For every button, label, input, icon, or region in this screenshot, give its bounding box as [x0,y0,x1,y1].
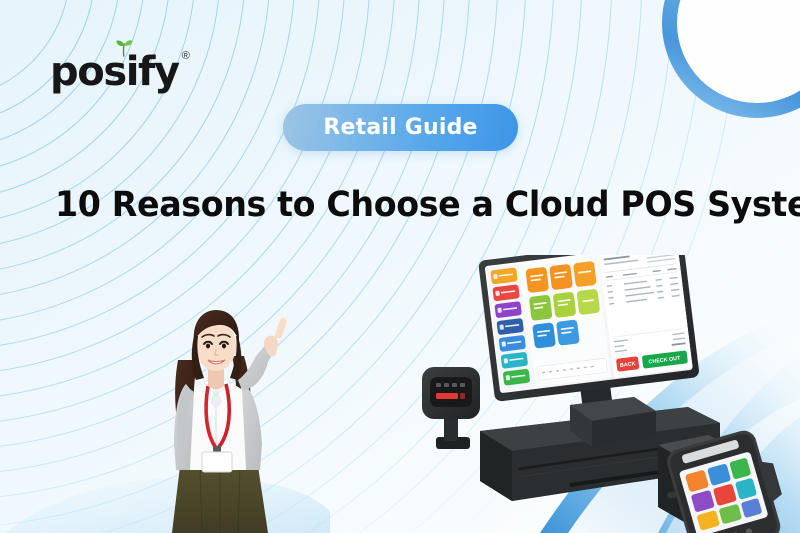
product-tile-fresh-food[interactable] [525,267,549,293]
product-tile-house-hold[interactable] [556,319,580,345]
posify-logo[interactable]: posify ® [50,52,190,92]
logo-wordmark: posify [50,52,179,92]
pointing-finger [274,318,286,338]
scanner-beam [436,393,458,399]
pos-hardware-scene: BACK CHECK OUT [420,255,800,533]
cloud-pos-monitor: BACK CHECK OUT [478,255,703,428]
barcode-scanner [422,367,480,449]
product-tile-baby-toddler[interactable] [553,292,577,318]
pos-product-grid [521,255,612,387]
retail-guide-badge[interactable]: Retail Guide [283,104,518,151]
registered-trademark-mark: ® [182,50,190,62]
banner-canvas: posify ® Retail Guide 10 Reasons to Choo… [0,0,800,533]
back-button[interactable]: BACK [616,356,639,372]
product-tile-pets[interactable] [576,289,600,315]
product-tile-home-diy[interactable] [532,322,556,348]
page-title: 10 Reasons to Choose a Cloud POS System [55,185,742,225]
product-tile-health-beauty[interactable] [529,295,553,321]
pos-receipt-panel: BACK CHECK OUT [599,255,693,377]
product-tile-frozen-food[interactable] [549,264,573,290]
smiling-retail-associate [150,298,320,533]
product-tile-bakery[interactable] [573,261,597,287]
decorative-ring-top-right [662,0,800,118]
leaf-sprout-icon [112,39,136,57]
badge-label: Retail Guide [323,115,477,140]
id-badge [202,452,232,472]
